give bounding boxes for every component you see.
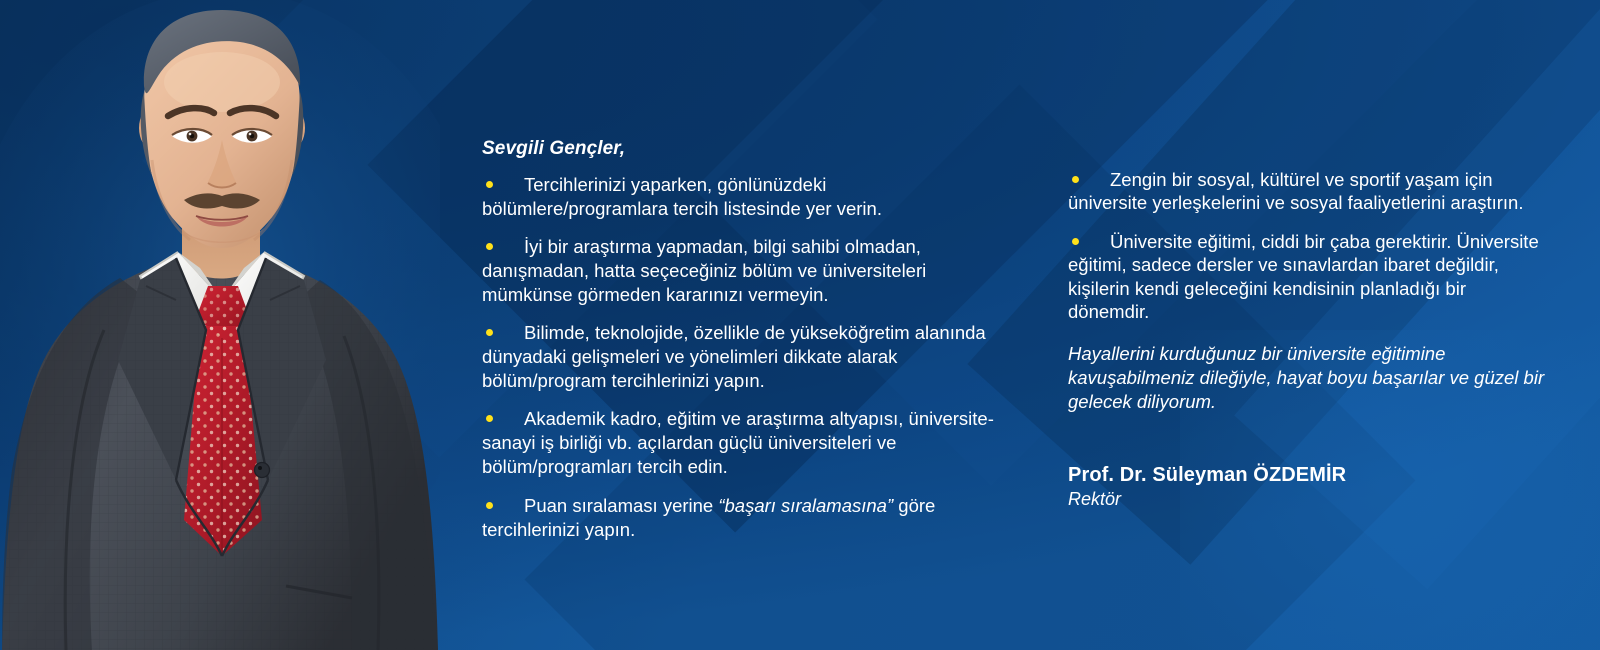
list-item-text: Üniversite eğitimi, ciddi bir çaba gerek… bbox=[1068, 231, 1539, 322]
bullet-dot-icon bbox=[486, 329, 493, 336]
list-item: Zengin bir sosyal, kültürel ve sportif y… bbox=[1068, 168, 1548, 215]
bullet-dot-icon bbox=[486, 502, 493, 509]
list-item: İyi bir araştırma yapmadan, bilgi sahibi… bbox=[482, 235, 1012, 307]
signature-name: Prof. Dr. Süleyman ÖZDEMİR bbox=[1068, 464, 1548, 487]
list-item-text: Bilimde, teknolojide, özellikle de yükse… bbox=[482, 322, 986, 391]
bullet-dot-icon bbox=[486, 415, 493, 422]
closing-paragraph: Hayallerini kurduğunuz bir üniversite eğ… bbox=[1068, 342, 1548, 415]
bullet-dot-icon bbox=[486, 243, 493, 250]
rector-message-banner: Sevgili Gençler, Tercihlerinizi yaparken… bbox=[0, 0, 1600, 650]
bullet-dot-icon bbox=[1072, 238, 1079, 245]
list-item-text: Akademik kadro, eğitim ve araştırma alty… bbox=[482, 408, 994, 477]
list-item-text: Tercihlerinizi yaparken, gönlünüzdeki bö… bbox=[482, 174, 882, 219]
list-item: Bilimde, teknolojide, özellikle de yükse… bbox=[482, 321, 1012, 393]
list-item: Akademik kadro, eğitim ve araştırma alty… bbox=[482, 407, 1012, 479]
list-item: Puan sıralaması yerine “başarı sıralamas… bbox=[482, 494, 1012, 542]
rector-portrait-photo bbox=[0, 0, 440, 650]
list-item: Üniversite eğitimi, ciddi bir çaba gerek… bbox=[1068, 230, 1548, 324]
list-item-text: İyi bir araştırma yapmadan, bilgi sahibi… bbox=[482, 236, 926, 305]
signature-title: Rektör bbox=[1068, 489, 1548, 510]
message-right-column: Zengin bir sosyal, kültürel ve sportif y… bbox=[1068, 168, 1548, 510]
list-item-quote: “başarı sıralamasına” bbox=[718, 495, 893, 516]
salutation: Sevgili Gençler, bbox=[482, 138, 1012, 160]
list-item-text: Zengin bir sosyal, kültürel ve sportif y… bbox=[1068, 169, 1524, 213]
message-left-column: Sevgili Gençler, Tercihlerinizi yaparken… bbox=[482, 138, 1012, 556]
list-item-text-before: Puan sıralaması yerine bbox=[524, 495, 718, 516]
list-item: Tercihlerinizi yaparken, gönlünüzdeki bö… bbox=[482, 173, 1012, 221]
bullet-dot-icon bbox=[486, 181, 493, 188]
bullet-dot-icon bbox=[1072, 176, 1079, 183]
